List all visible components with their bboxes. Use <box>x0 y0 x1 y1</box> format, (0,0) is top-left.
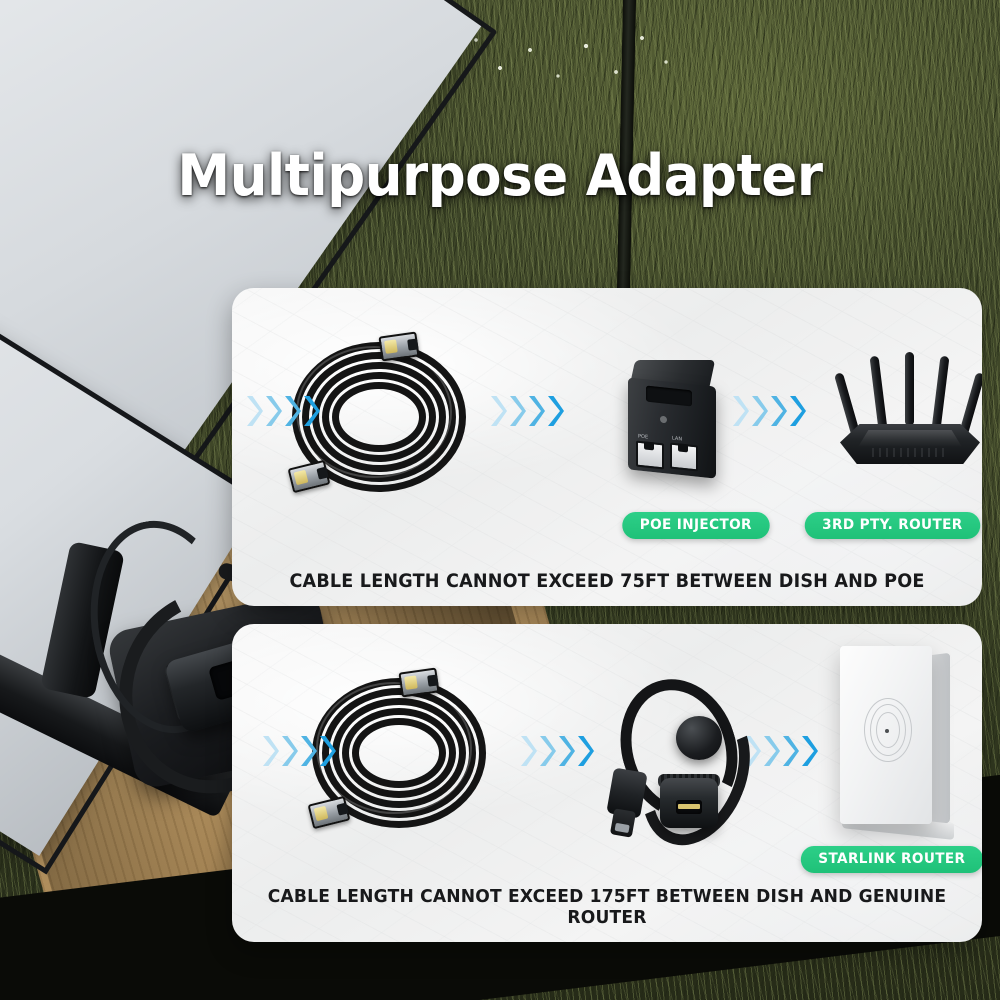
chevron-right-icon <box>528 394 545 428</box>
chevron-right-icon <box>246 394 263 428</box>
badge-poe-injector: POE INJECTOR <box>622 512 769 539</box>
cable-gloss <box>316 682 472 814</box>
rj45-clip <box>427 674 438 686</box>
poe-status-led <box>660 416 667 424</box>
rj45-connector-bottom <box>308 796 351 829</box>
chevron-right-icon <box>539 734 556 768</box>
chevron-right-icon <box>789 394 806 428</box>
card-poe-setup: POE LAN POE INJECTOR 3RD PTY. ROUTER CAB… <box>232 288 982 606</box>
router-top-face <box>858 430 962 447</box>
badge-starlink-router: STARLINK ROUTER <box>801 846 982 873</box>
chevron-right-icon <box>520 734 537 768</box>
chevron-right-icon <box>319 734 336 768</box>
card-genuine-router-setup: STARLINK ROUTER CABLE LENGTH CANNOT EXCE… <box>232 624 982 942</box>
chevron-right-icon <box>284 394 301 428</box>
chevron-right-icon <box>262 734 279 768</box>
starlink-router <box>840 646 956 836</box>
rj45-gold-contacts <box>294 470 309 486</box>
chevron-right-icon <box>770 394 787 428</box>
chevron-right-icon <box>490 394 507 428</box>
rj45-connector-bottom <box>288 460 331 493</box>
rj45-clip <box>407 338 418 350</box>
starlink-logo-center-dot <box>885 729 889 733</box>
arrow-group-1 <box>246 394 320 428</box>
arrow-group-2 <box>520 734 594 768</box>
adapter-plug-tip <box>610 808 636 837</box>
starlink-router-side <box>930 653 950 825</box>
rj45-connector-top <box>398 667 439 697</box>
starlink-adapter-cable <box>604 674 754 846</box>
caption-poe-setup: CABLE LENGTH CANNOT EXCEED 75FT BETWEEN … <box>251 571 964 592</box>
poe-rj45-port-lan <box>670 443 698 472</box>
poe-port-label-lan: LAN <box>672 435 682 442</box>
chevron-right-icon <box>577 734 594 768</box>
chevron-right-icon <box>763 734 780 768</box>
rj45-gold-contacts <box>404 675 418 690</box>
page-title: Multipurpose Adapter <box>35 143 965 209</box>
badge-third-party-router: 3RD PTY. ROUTER <box>805 512 980 539</box>
poe-injector: POE LAN <box>624 360 720 478</box>
arrow-group-1 <box>262 734 336 768</box>
caption-genuine-router-setup: CABLE LENGTH CANNOT EXCEED 175FT BETWEEN… <box>251 886 964 928</box>
rj45-gold-contacts <box>384 339 398 354</box>
chevron-right-icon <box>732 394 749 428</box>
third-party-router <box>832 350 982 472</box>
rj45-connector-top <box>378 331 419 361</box>
router-vents <box>872 448 948 457</box>
chevron-right-icon <box>751 394 768 428</box>
router-antenna <box>932 356 950 431</box>
router-antenna <box>870 356 888 431</box>
arrow-group-2 <box>490 394 564 428</box>
chevron-right-icon <box>281 734 298 768</box>
arrow-group-3 <box>732 394 806 428</box>
adapter-socket-barrel <box>660 778 718 828</box>
chevron-right-icon <box>782 734 799 768</box>
chevron-right-icon <box>801 734 818 768</box>
infographic-canvas: Multipurpose Adapter <box>0 0 1000 1000</box>
chevron-right-icon <box>558 734 575 768</box>
chevron-right-icon <box>509 394 526 428</box>
poe-port-label-poe: POE <box>638 433 648 440</box>
chevron-right-icon <box>265 394 282 428</box>
arrow-group-3 <box>744 734 818 768</box>
chevron-right-icon <box>547 394 564 428</box>
rj45-gold-contacts <box>314 806 329 822</box>
chevron-right-icon <box>300 734 317 768</box>
router-antenna <box>905 352 914 426</box>
chevron-right-icon <box>303 394 320 428</box>
adapter-dust-cap <box>676 716 722 760</box>
poe-rj45-port-poe <box>636 441 664 470</box>
